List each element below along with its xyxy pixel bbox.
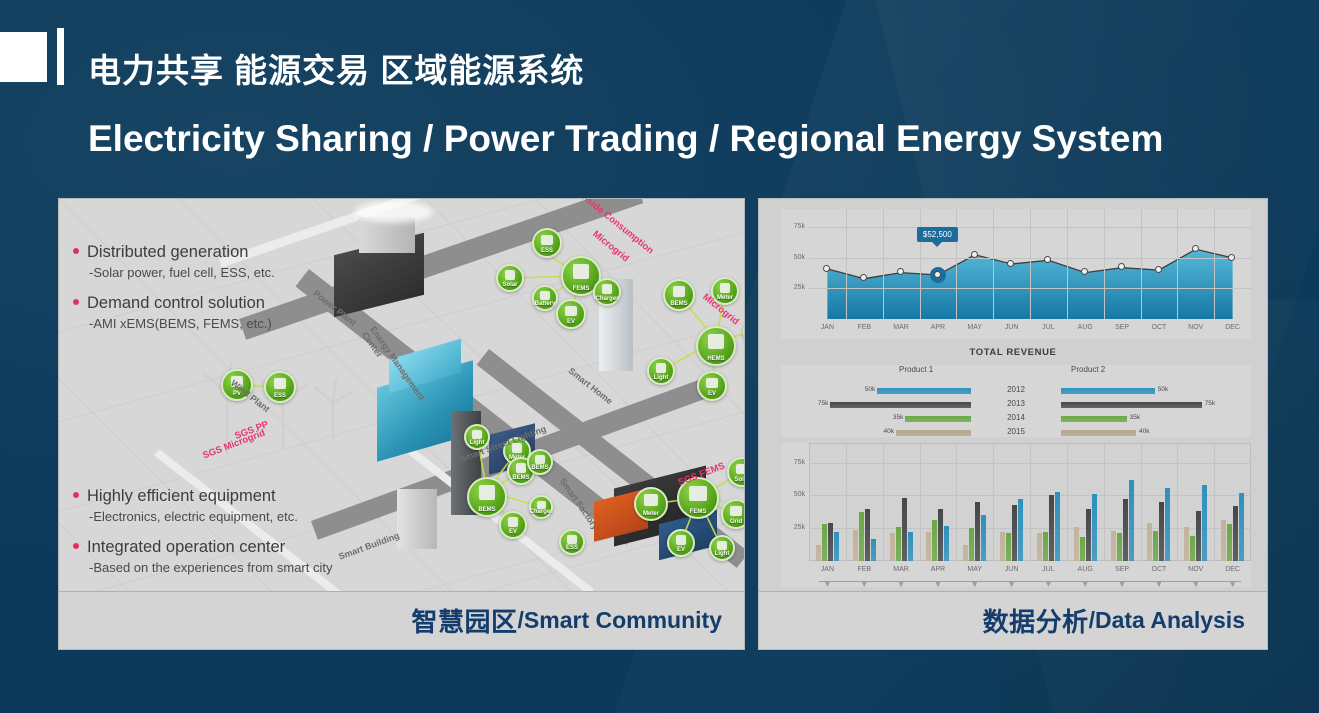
product-1-bar [896,430,971,436]
x-tick-label: AUG [1069,324,1101,331]
bar-series-4 [981,515,986,561]
bar-series-1 [1184,527,1189,561]
bullet-subtitle: -Electronics, electric equipment, etc. [89,509,333,524]
node-label: Charger [595,296,618,302]
node-light-2[interactable]: Light [709,535,735,561]
smart-community-illustration: ESS FEMS Solar Battery Charger EV BEMS M… [59,199,744,591]
axis-tick-marker [1193,582,1198,587]
node-label: Grid [730,519,742,525]
axis-tick-marker [935,582,940,587]
bullet-title: Integrated operation center [87,538,285,557]
bar-series-2 [969,528,974,561]
product-2-header: Product 2 [1071,365,1105,374]
slide-header: 电力共享 能源交易 区域能源系统 Electricity Sharing / P… [0,0,1319,186]
node-grid-2[interactable]: Grid [721,499,744,529]
bullet-dot-icon [73,299,79,305]
axis-tick-marker [1009,582,1014,587]
x-tick-label: FEB [848,566,880,573]
node-factory-meter[interactable]: Meter [634,487,668,521]
bullet-item: Highly efficient equipment [73,487,333,506]
product-1-value: 35k [885,414,903,421]
product-1-bar [877,388,971,394]
bar-series-2 [822,524,827,561]
node-charger-2[interactable]: Charger [529,495,553,519]
page-title-en: Electricity Sharing / Power Trading / Re… [88,118,1163,160]
bullet-dot-icon [73,543,79,549]
x-tick-label: NOV [1180,324,1212,331]
node-label: EV [708,391,716,397]
axis-tick-marker [1156,582,1161,587]
bar-series-2 [1043,532,1048,561]
data-analysis-caption: 数据分析 /Data Analysis [759,591,1267,649]
bar-series-3 [1012,505,1017,561]
x-tick-label: NOV [1180,566,1212,573]
node-label: ESS [541,248,553,254]
axis-tick-marker [899,582,904,587]
y-tick-label: 25k [781,524,805,531]
x-tick-label: APR [922,566,954,573]
gridline-vertical [846,209,847,319]
bar-series-4 [1165,488,1170,561]
data-point[interactable] [934,271,941,278]
node-label: HEMS [707,356,724,362]
node-building-ems[interactable]: BEMS [527,449,553,475]
bar-series-2 [1006,533,1011,561]
bar-series-4 [908,532,913,561]
page-title-cn: 电力共享 能源交易 区域能源系统 [88,44,584,92]
bar-series-1 [890,533,895,561]
bar-series-2 [932,520,937,561]
bar-series-1 [1147,523,1152,561]
node-label: Solar [502,282,517,288]
product-2-value: 40k [1139,428,1157,435]
product-2-value: 50k [1158,386,1176,393]
node-label: BEMS [670,301,687,307]
y-tick-label: 75k [781,223,805,230]
axis-tick-marker [972,582,977,587]
gridline-vertical [920,209,921,319]
bar-series-1 [1074,527,1079,561]
product-2-bar [1061,402,1202,408]
node-label: FEMS [573,286,590,292]
total-revenue-title: TOTAL REVENUE [759,347,1267,358]
bar-series-3 [1086,509,1091,561]
bullet-item: Integrated operation center [73,538,333,557]
isometric-city-map: ESS FEMS Solar Battery Charger EV BEMS M… [59,199,744,591]
node-label: Light [654,375,669,381]
data-point[interactable] [1192,245,1199,252]
y-tick-label: 25k [781,284,805,291]
bullet-subtitle: -AMI xEMS(BEMS, FEMS, etc.) [89,316,275,331]
dashboard-canvas: 25k50k75k JANFEBMARAPRMAYJUNJULAUGSEPOCT… [759,199,1267,591]
node-label: Solar [734,477,744,483]
bar-series-4 [1018,499,1023,561]
bar-series-1 [1037,533,1042,561]
node-label: Meter [717,295,733,301]
data-analysis-dashboard: 25k50k75k JANFEBMARAPRMAYJUNJULAUGSEPOCT… [759,199,1267,591]
gridline-vertical [956,443,957,561]
bar-series-2 [1117,533,1122,561]
caption-cn: 智慧园区 [412,602,518,639]
gridline-vertical [1104,443,1105,561]
axis-tick-marker [825,582,830,587]
node-ev-4[interactable]: EV [667,529,695,557]
node-light-1[interactable]: Light [647,357,675,385]
axis-tick-marker [1083,582,1088,587]
x-tick-label: SEP [1106,566,1138,573]
node-label: Light [715,551,730,557]
node-label: EV [567,319,575,325]
bar-series-1 [926,532,931,561]
bullet-subtitle: -Based on the experiences from smart cit… [89,560,333,575]
gridline-vertical [1067,209,1068,319]
gridline-vertical [1177,209,1178,319]
node-label: Charger [530,509,553,515]
x-tick-label: OCT [1143,566,1175,573]
product-2-bar [1061,416,1127,422]
bar-series-2 [1153,531,1158,561]
x-tick-label: DEC [1217,324,1249,331]
smart-community-caption: 智慧园区 /Smart Community [59,591,744,649]
y-tick-label: 50k [781,491,805,498]
x-tick-label: JUN [996,566,1028,573]
revenue-year-label: 2012 [1007,385,1025,394]
bullet-item: Distributed generation [73,243,275,262]
node-label: BEMS [531,465,548,471]
node-label: FEMS [690,509,707,515]
bar-series-1 [1000,532,1005,561]
axis-tick-marker [1046,582,1051,587]
product-1-value: 75k [810,400,828,407]
gridline-vertical [1104,209,1105,319]
node-battery[interactable]: Battery [532,285,558,311]
x-tick-label: JUL [1032,566,1064,573]
node-bems-main[interactable]: BEMS [467,477,507,517]
bullet-subtitle: -Solar power, fuel cell, ESS, etc. [89,265,275,280]
data-analysis-panel[interactable]: 25k50k75k JANFEBMARAPRMAYJUNJULAUGSEPOCT… [758,198,1268,650]
product-2-value: 75k [1205,400,1223,407]
gridline-vertical [1030,443,1031,561]
bullet-group-bottom: Highly efficient equipment -Electronics,… [73,487,333,589]
gridline-vertical [1214,209,1215,319]
product-2-bar [1061,388,1155,394]
bullet-title: Distributed generation [87,243,248,262]
data-point-tooltip: $52,500 [917,227,958,242]
bar-series-2 [1080,537,1085,561]
node-label: BEMS [512,475,529,481]
bar-series-4 [1239,493,1244,561]
bar-series-4 [1055,492,1060,561]
node-label: ESS [274,393,286,399]
revenue-year-label: 2014 [1007,413,1025,422]
revenue-year-label: 2015 [1007,427,1025,436]
monthly-bar-chart[interactable]: 25k50k75k JANFEBMARAPRMAYJUNJULAUGSEPOCT… [781,443,1251,587]
axis-tick-marker [1230,582,1235,587]
axis-tick-marker [1120,582,1125,587]
gridline-vertical [956,209,957,319]
axis-tick-marker [862,582,867,587]
gridline-vertical [883,443,884,561]
node-ess-1[interactable]: ESS [532,228,562,258]
gridline-vertical [1141,209,1142,319]
product-1-bar [830,402,971,408]
x-tick-label: JUL [1032,324,1064,331]
x-tick-label: MAY [959,324,991,331]
bar-series-2 [1190,536,1195,561]
revenue-row: 40k201540k [781,429,1251,437]
revenue-area-chart[interactable]: 25k50k75k JANFEBMARAPRMAYJUNJULAUGSEPOCT… [781,209,1251,339]
bullet-title: Highly efficient equipment [87,487,276,506]
y-tick-label: 75k [781,459,805,466]
bar-axis-line [819,581,1241,582]
bar-series-4 [834,532,839,561]
bar-series-4 [944,526,949,561]
node-label: Meter [643,511,659,517]
node-label: Battery [535,301,556,307]
x-tick-label: MAR [885,566,917,573]
bar-series-1 [1111,531,1116,561]
bar-series-1 [1221,520,1226,561]
title-accent-bar [57,28,64,85]
gridline-vertical [846,443,847,561]
revenue-row: 50k201250k [781,387,1251,395]
product-1-value: 50k [857,386,875,393]
bar-series-3 [865,509,870,561]
node-label: EV [509,529,517,535]
bar-series-1 [816,545,821,561]
bar-series-4 [1092,494,1097,561]
bar-series-4 [1129,480,1134,561]
gridline-vertical [993,209,994,319]
bar-series-4 [871,539,876,561]
node-solar[interactable]: Solar [496,264,524,292]
bullet-dot-icon [73,248,79,254]
x-tick-label: MAY [959,566,991,573]
x-tick-label: FEB [848,324,880,331]
y-tick-label: 50k [781,254,805,261]
gridline-vertical [993,443,994,561]
gridline-vertical [1214,443,1215,561]
bar-series-4 [1202,485,1207,561]
revenue-row: 35k201435k [781,415,1251,423]
product-1-header: Product 1 [899,365,933,374]
node-label: ESS [566,545,578,551]
title-mark-block [0,32,47,82]
x-tick-label: JAN [811,566,843,573]
x-tick-label: APR [922,324,954,331]
bar-series-3 [1233,506,1238,561]
bar-series-2 [1227,524,1232,561]
data-point[interactable] [1155,266,1162,273]
bar-series-3 [902,498,907,561]
x-tick-label: DEC [1217,566,1249,573]
node-label: EV [677,547,685,553]
node-ess-wind[interactable]: ESS [264,371,296,403]
gridline-vertical [1141,443,1142,561]
gridline-vertical [1030,209,1031,319]
bar-series-3 [1196,511,1201,561]
x-tick-label: AUG [1069,566,1101,573]
caption-en: /Smart Community [518,607,722,634]
bar-series-3 [1159,502,1164,561]
smart-community-panel[interactable]: ESS FEMS Solar Battery Charger EV BEMS M… [58,198,745,650]
x-tick-label: SEP [1106,324,1138,331]
bar-series-2 [896,527,901,561]
bar-series-1 [963,545,968,561]
bar-series-3 [1123,499,1128,561]
bar-series-3 [1049,495,1054,561]
data-point[interactable] [971,251,978,258]
bar-series-2 [859,512,864,561]
bar-series-3 [828,523,833,561]
product-1-value: 40k [876,428,894,435]
revenue-row: 75k201375k [781,401,1251,409]
product-2-bar [1061,430,1136,436]
gridline-vertical [1177,443,1178,561]
gridline-vertical [1067,443,1068,561]
caption-cn: 数据分析 [983,602,1089,639]
bullet-group-top: Distributed generation -Solar power, fue… [73,243,275,345]
gridline-vertical [883,209,884,319]
x-tick-label: MAR [885,324,917,331]
node-ev-1[interactable]: EV [556,299,586,329]
x-tick-label: JUN [996,324,1028,331]
node-hems[interactable]: HEMS [696,326,736,366]
bar-series-3 [938,509,943,561]
bullet-dot-icon [73,492,79,498]
bar-series-1 [853,530,858,561]
x-tick-label: OCT [1143,324,1175,331]
node-bems[interactable]: BEMS [663,279,695,311]
x-tick-label: JAN [811,324,843,331]
revenue-year-label: 2013 [1007,399,1025,408]
total-revenue-chart[interactable]: Product 1 Product 2 50k201250k75k201375k… [781,365,1251,437]
bar-series-3 [975,502,980,561]
node-ev-3[interactable]: EV [499,511,527,539]
node-charger[interactable]: Charger [593,278,621,306]
gridline-vertical [920,443,921,561]
node-ev-2[interactable]: EV [697,371,727,401]
bullet-title: Demand control solution [87,294,265,313]
node-label: BEMS [478,507,495,513]
bullet-item: Demand control solution [73,294,275,313]
product-2-value: 35k [1130,414,1148,421]
caption-en: /Data Analysis [1089,607,1245,634]
data-point[interactable] [823,265,830,272]
node-ess-2[interactable]: ESS [559,529,585,555]
product-1-bar [905,416,971,422]
